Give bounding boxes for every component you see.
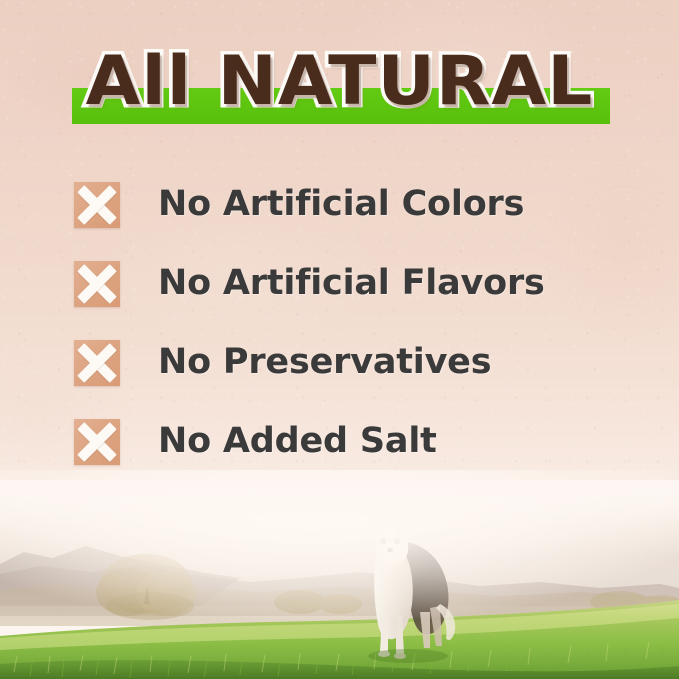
x-mark-icon (74, 182, 120, 228)
feature-label: No Added Salt (158, 419, 437, 464)
list-item: No Artificial Colors (74, 182, 634, 261)
landscape-photo (0, 486, 679, 679)
x-mark-icon (74, 419, 120, 465)
x-mark-glyph (74, 182, 120, 228)
all-natural-feature-panel: All NATURAL No Artificial Colors No Arti… (0, 0, 679, 679)
feature-label: No Preservatives (158, 340, 491, 385)
x-mark-glyph (74, 261, 120, 307)
x-mark-icon (74, 340, 120, 386)
feature-label: No Artificial Flavors (158, 261, 545, 306)
list-item: No Preservatives (74, 340, 634, 419)
feature-list: No Artificial Colors No Artificial Flavo… (74, 182, 634, 498)
list-item: No Artificial Flavors (74, 261, 634, 340)
landscape-illustration (0, 486, 679, 679)
x-mark-glyph (74, 419, 120, 465)
page-title: All NATURAL (0, 46, 679, 118)
x-mark-glyph (74, 340, 120, 386)
x-mark-icon (74, 261, 120, 307)
feature-label: No Artificial Colors (158, 182, 524, 227)
title-block: All NATURAL (0, 46, 679, 132)
